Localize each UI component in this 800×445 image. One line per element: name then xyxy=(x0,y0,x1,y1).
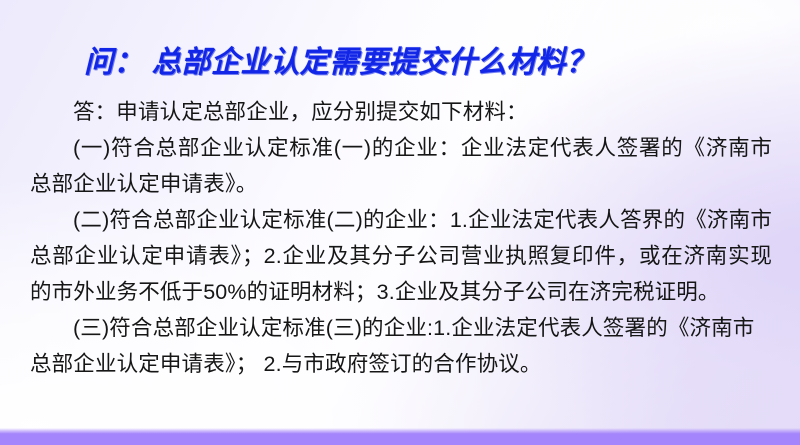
slide-content: 问： 总部企业认定需要提交什么材料？ 答：申请认定总部企业，应分别提交如下材料：… xyxy=(0,0,800,445)
slide-body: 答：申请认定总部企业，应分别提交如下材料： (一)符合总部企业认定标准(一)的企… xyxy=(30,94,772,382)
body-paragraph-criterion-three: (三)符合总部企业认定标准(三)的企业:1.企业法定代表人签署的《济南市总部企业… xyxy=(30,310,772,382)
bottom-accent-bar xyxy=(0,428,800,445)
slide-title: 问： 总部企业认定需要提交什么材料？ xyxy=(84,46,596,80)
body-paragraph-answer-intro: 答：申请认定总部企业，应分别提交如下材料： xyxy=(30,94,772,130)
body-paragraph-criterion-two: (二)符合总部企业认定标准(二)的企业：1.企业法定代表人答界的《济南市总部企业… xyxy=(30,202,772,310)
body-paragraph-criterion-one: (一)符合总部企业认定标准(一)的企业：企业法定代表人签署的《济南市总部企业认定… xyxy=(30,130,772,202)
slide-canvas: 问： 总部企业认定需要提交什么材料？ 答：申请认定总部企业，应分别提交如下材料：… xyxy=(0,0,800,445)
